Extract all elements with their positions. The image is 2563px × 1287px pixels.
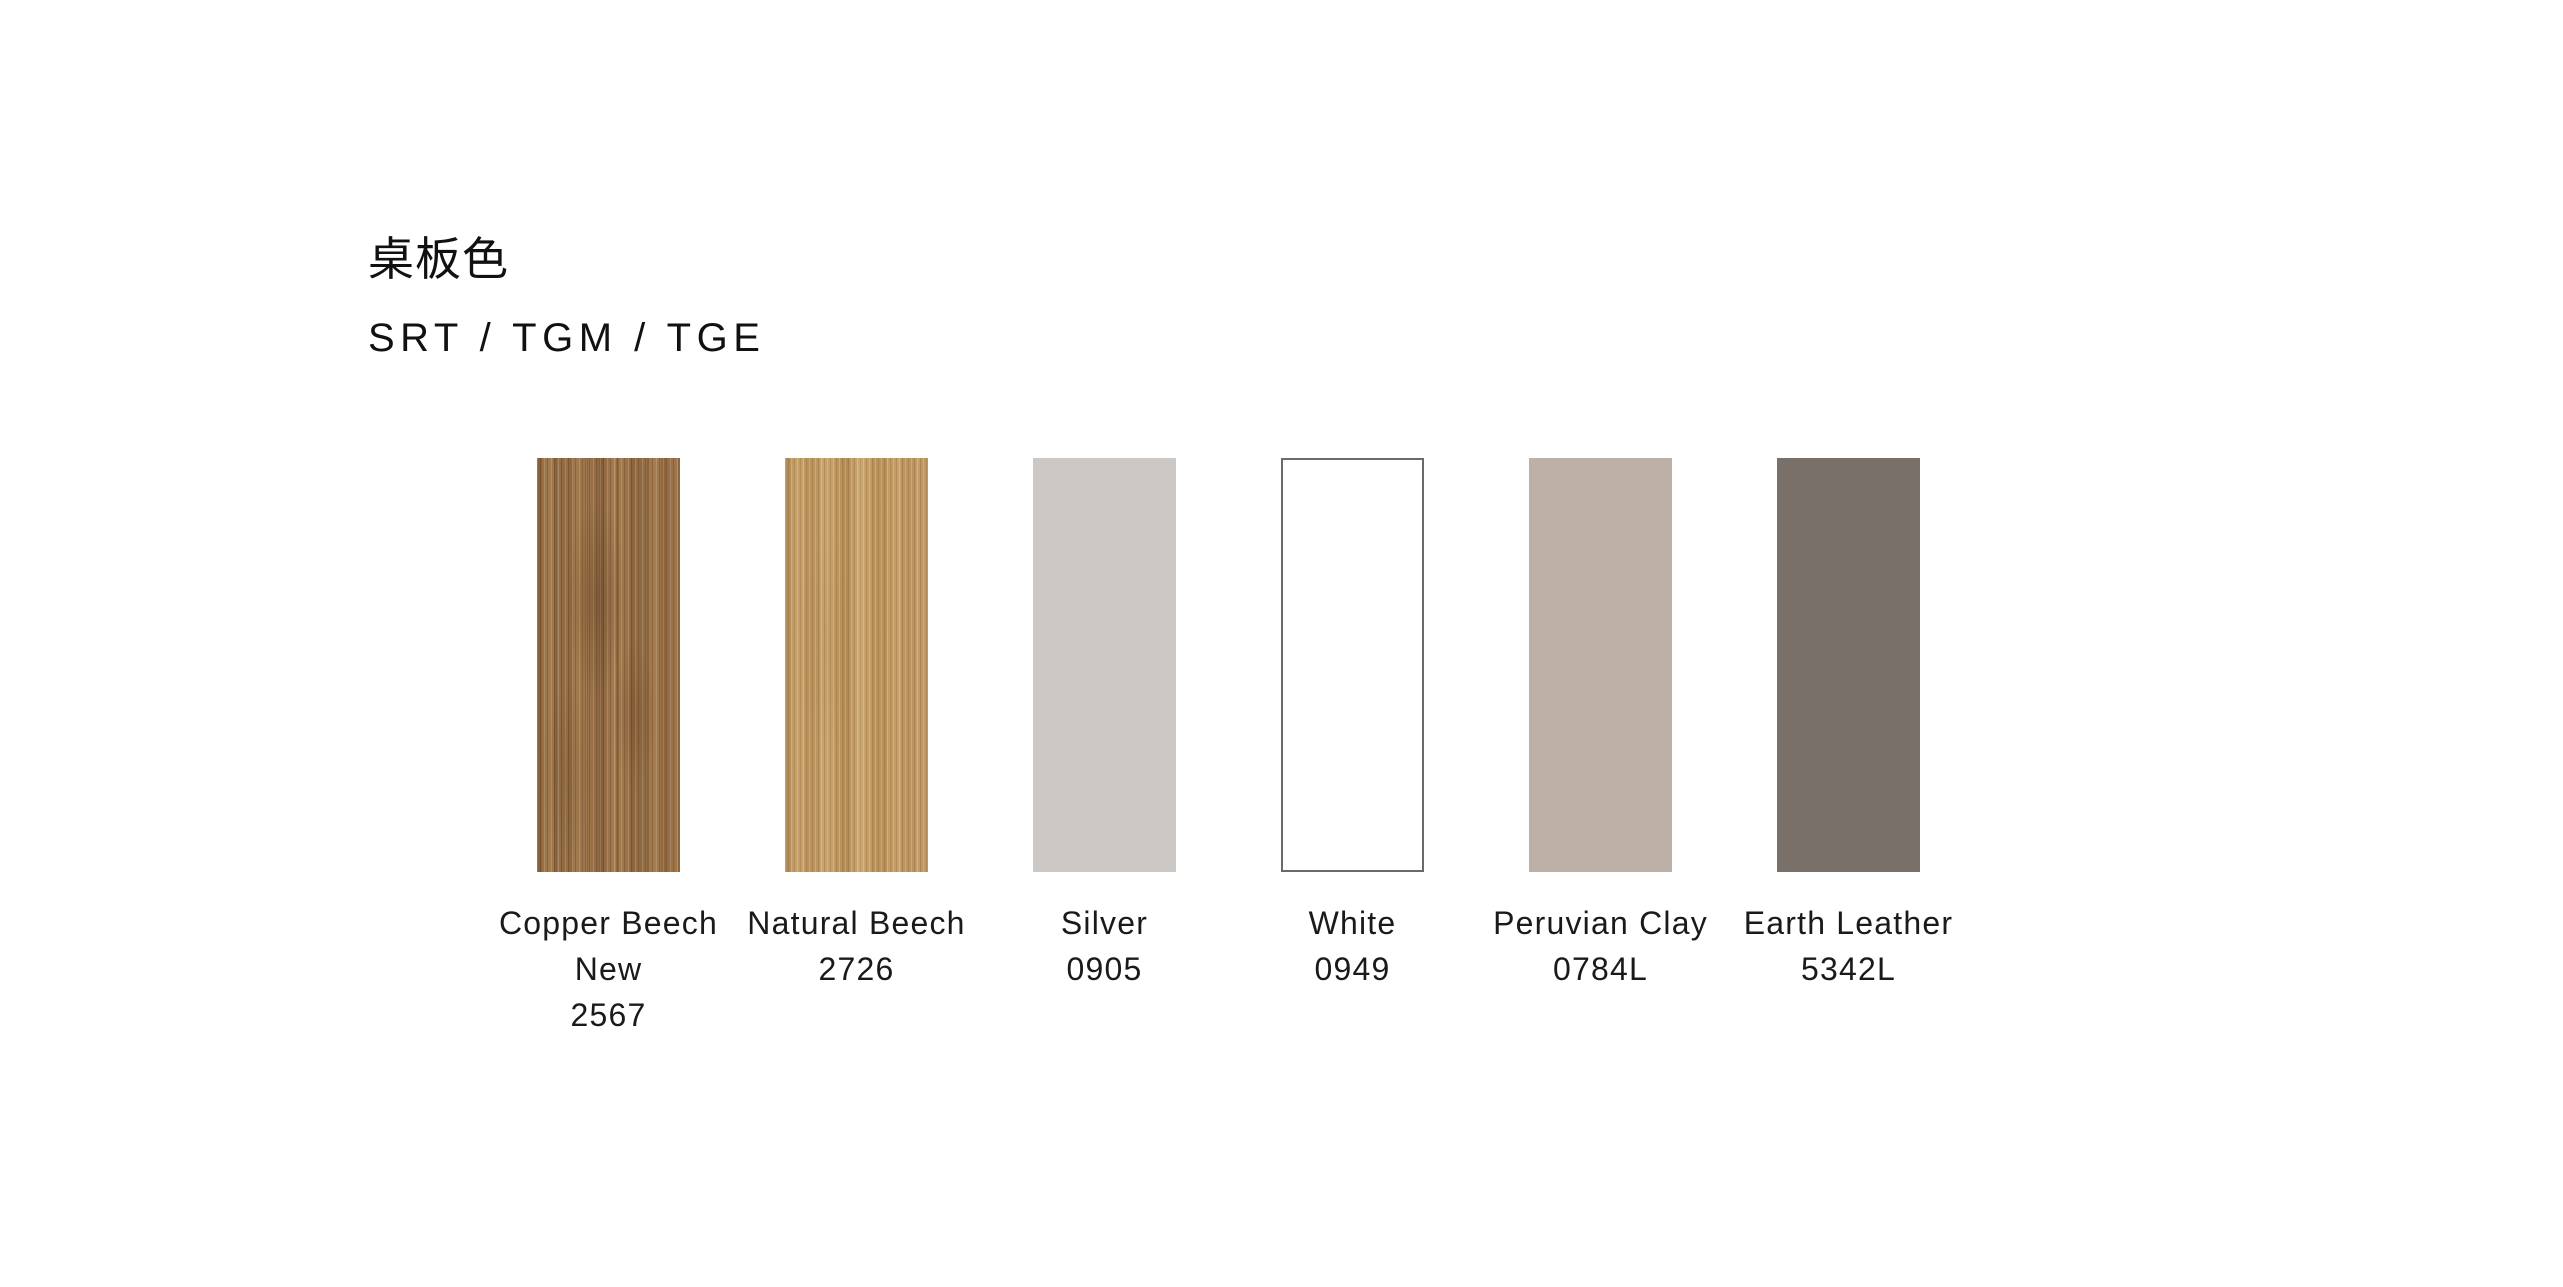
swatch-label: Earth Leather 5342L <box>1734 900 1964 992</box>
swatch-row: Copper Beech New 2567 Natural Beech 2726… <box>537 458 1920 1038</box>
color-chip[interactable] <box>1281 458 1424 872</box>
swatch-code: 5342L <box>1734 946 1964 992</box>
swatch-code: 0949 <box>1238 946 1468 992</box>
swatch-item-natural-beech[interactable]: Natural Beech 2726 <box>785 458 928 992</box>
swatch-label: Natural Beech 2726 <box>742 900 972 992</box>
swatch-name: Copper Beech New <box>494 900 724 992</box>
swatch-name: Natural Beech <box>742 900 972 946</box>
swatch-label: Copper Beech New 2567 <box>494 900 724 1038</box>
color-chip[interactable] <box>1777 458 1920 872</box>
swatch-code: 0905 <box>990 946 1220 992</box>
swatch-item-silver[interactable]: Silver 0905 <box>1033 458 1176 992</box>
swatch-item-peruvian-clay[interactable]: Peruvian Clay 0784L <box>1529 458 1672 992</box>
color-chip[interactable] <box>785 458 928 872</box>
swatch-item-earth-leather[interactable]: Earth Leather 5342L <box>1777 458 1920 992</box>
swatch-label: White 0949 <box>1238 900 1468 992</box>
swatch-label: Peruvian Clay 0784L <box>1486 900 1716 992</box>
swatch-item-white[interactable]: White 0949 <box>1281 458 1424 992</box>
page-title: 桌板色 <box>368 232 1568 286</box>
swatch-name: Silver <box>990 900 1220 946</box>
color-options-page: 桌板色 SRT / TGM / TGE Copper Beech New 256… <box>0 0 2563 1287</box>
color-chip[interactable] <box>1529 458 1672 872</box>
color-chip[interactable] <box>1033 458 1176 872</box>
swatch-code: 2726 <box>742 946 972 992</box>
swatch-name: Peruvian Clay <box>1486 900 1716 946</box>
page-subtitle: SRT / TGM / TGE <box>368 316 1568 361</box>
swatch-code: 0784L <box>1486 946 1716 992</box>
swatch-item-copper-beech-new[interactable]: Copper Beech New 2567 <box>537 458 680 1038</box>
swatch-code: 2567 <box>494 992 724 1038</box>
swatch-name: White <box>1238 900 1468 946</box>
heading-block: 桌板色 SRT / TGM / TGE <box>368 232 1568 361</box>
swatch-name: Earth Leather <box>1734 900 1964 946</box>
color-chip[interactable] <box>537 458 680 872</box>
swatch-label: Silver 0905 <box>990 900 1220 992</box>
